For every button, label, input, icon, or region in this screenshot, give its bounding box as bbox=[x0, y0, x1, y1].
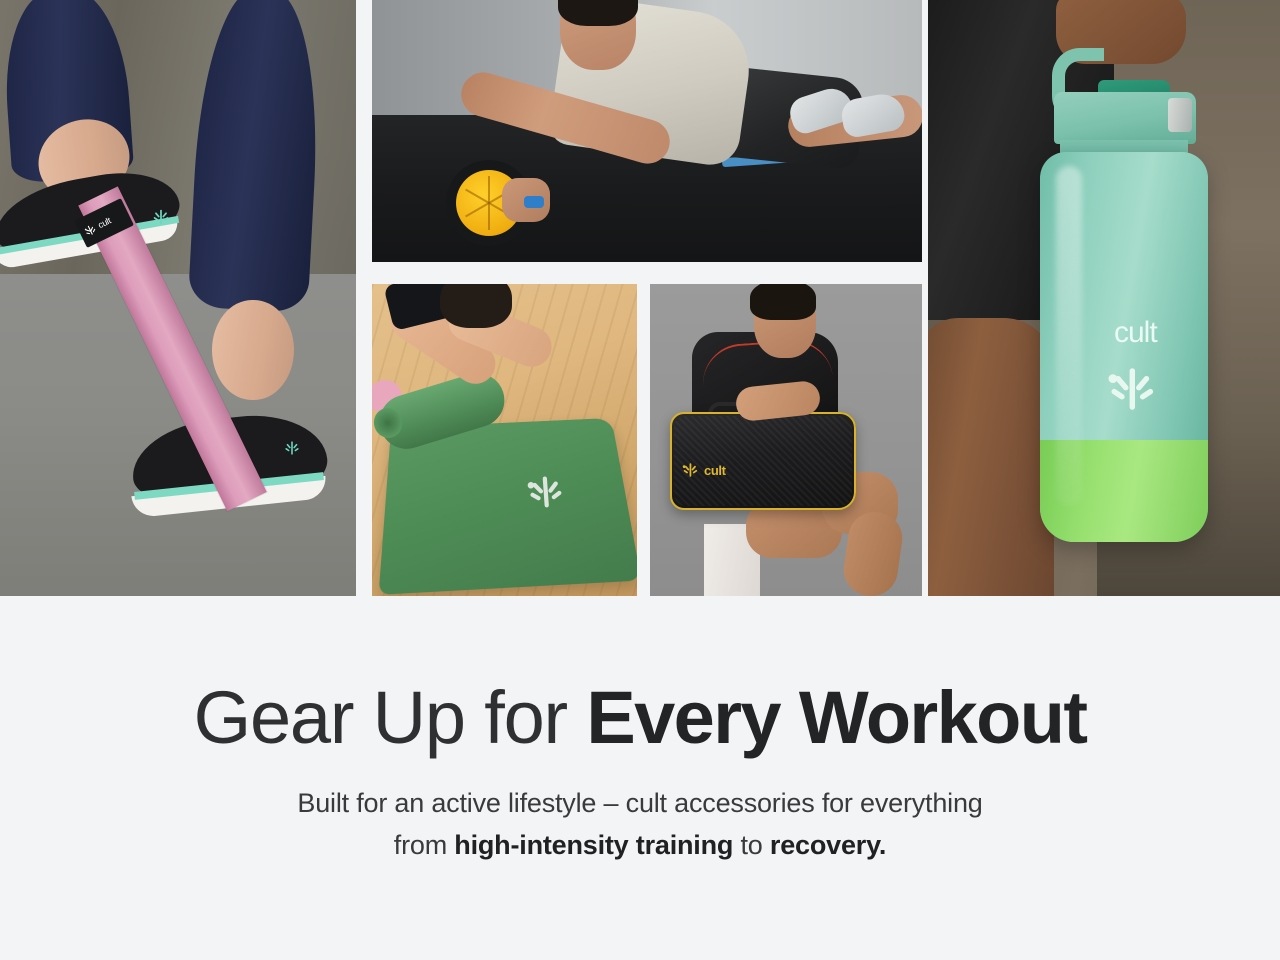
model-hair bbox=[750, 284, 816, 320]
bottle-brand-label: cult bbox=[1114, 316, 1157, 350]
gallery-item-ab-roller[interactable] bbox=[372, 0, 922, 262]
model-leg bbox=[928, 318, 1054, 596]
sneaker-logo-icon bbox=[150, 206, 172, 233]
ankle-right bbox=[212, 300, 294, 400]
subtitle-line-1: Built for an active lifestyle – cult acc… bbox=[297, 788, 982, 818]
hero-banner: cult bbox=[0, 0, 1280, 960]
headline-bold: Every Workout bbox=[586, 676, 1086, 759]
bottle-cult-sunburst-icon bbox=[1100, 358, 1162, 425]
cult-sunburst-icon bbox=[680, 460, 700, 480]
gallery-item-resistance-band[interactable]: cult bbox=[0, 0, 356, 596]
headline-light: Gear Up for bbox=[194, 676, 587, 759]
subtitle-line2-middle: to bbox=[733, 830, 770, 860]
gallery-item-duffel-bag[interactable]: cult bbox=[650, 284, 922, 596]
hero-copy-block: Gear Up for Every Workout Built for an a… bbox=[0, 596, 1280, 960]
yoga-mat-cult-logo-icon bbox=[520, 467, 569, 521]
duffel-brand-label: cult bbox=[704, 463, 726, 478]
band-brand-label: cult bbox=[96, 216, 112, 231]
page-title: Gear Up for Every Workout bbox=[194, 680, 1087, 755]
sneaker-logo-icon-secondary bbox=[282, 438, 302, 463]
bottle-latch bbox=[1168, 98, 1192, 132]
cult-sunburst-icon bbox=[81, 221, 98, 238]
product-image-collage: cult bbox=[0, 0, 1280, 596]
subtitle-line2-bold-2: recovery. bbox=[770, 830, 886, 860]
user-head bbox=[440, 284, 512, 328]
subtitle-line2-prefix: from bbox=[394, 830, 455, 860]
athlete-hair bbox=[558, 0, 638, 26]
roller-grip bbox=[524, 196, 544, 208]
subtitle-line2-bold-1: high-intensity training bbox=[454, 830, 733, 860]
page-subtitle: Built for an active lifestyle – cult acc… bbox=[297, 783, 982, 867]
gallery-item-yoga-mat[interactable] bbox=[372, 284, 637, 596]
duffel-brand-lockup: cult bbox=[680, 460, 726, 480]
gallery-item-water-bottle[interactable]: cult bbox=[928, 0, 1280, 596]
roller-spoke bbox=[488, 203, 490, 230]
roller-spoke bbox=[488, 176, 490, 203]
bottle-highlight bbox=[1056, 166, 1082, 506]
